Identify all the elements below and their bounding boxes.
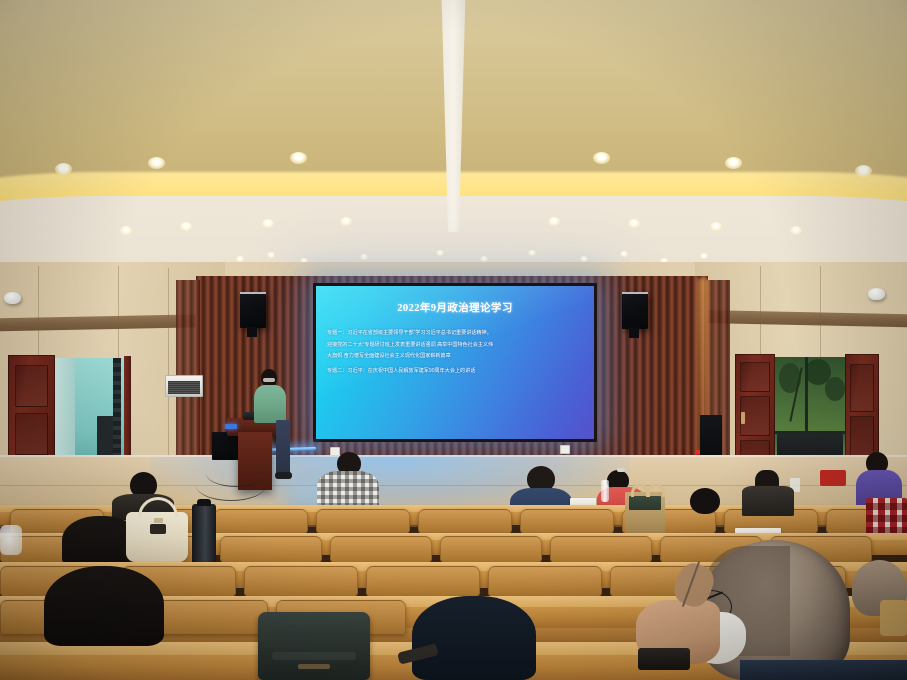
- tote-jute: [625, 492, 665, 536]
- downlight-inner-5: [628, 219, 640, 228]
- projection-screen: 2022年9月政治理论学习 专题一：习近平在省部级主要领导干部“学习习近平总书记…: [313, 283, 597, 442]
- downlight-stage-4: [436, 250, 444, 256]
- slide-line-1: 专题一：习近平在省部级主要领导干部“学习习近平总书记重要讲话精神，: [327, 328, 583, 340]
- downlight-stage-3: [360, 254, 368, 260]
- downlight-inner-0: [120, 226, 132, 235]
- slide-body: 专题一：习近平在省部级主要领导干部“学习习近平总书记重要讲话精神， 迎接党的二十…: [327, 328, 583, 377]
- downlight-inner-7: [790, 226, 802, 235]
- downlight-outer-2: [290, 152, 307, 164]
- door-handle-icon[interactable]: [741, 412, 745, 424]
- smoke-detector-left-icon: [4, 292, 21, 304]
- attendee-bottom-mid: [412, 596, 536, 680]
- water-bottle: [601, 480, 609, 502]
- downlight-outer-3: [593, 152, 610, 164]
- side-cabinet: [700, 415, 722, 455]
- thermos-black: [192, 504, 216, 566]
- backpack-dark: [258, 612, 370, 680]
- downlight-inner-6: [710, 222, 722, 231]
- downlight-inner-3: [340, 217, 352, 226]
- slide-line-4: 专题二：习近平：在庆祝中国人民解放军建军90周年大会上的讲话: [327, 366, 583, 378]
- downlight-outer-1: [148, 157, 165, 169]
- presenter-torso: [254, 385, 286, 423]
- wall-speaker-right-icon: [622, 292, 648, 329]
- chair-r1-c5[interactable]: [418, 509, 512, 533]
- red-item-on-desk: [820, 470, 846, 486]
- hair-clip-icon: [617, 468, 625, 472]
- ceiling-downlights: [0, 0, 907, 300]
- presenter-shoes: [275, 472, 292, 479]
- downlight-outer-0: [55, 163, 72, 175]
- downlight-outer-4: [725, 157, 742, 169]
- downlight-stage-1: [267, 252, 275, 258]
- chair-r3-c3[interactable]: [244, 566, 358, 596]
- chair-r2-c3[interactable]: [220, 536, 322, 562]
- chair-r3-c5[interactable]: [488, 566, 602, 596]
- downlight-inner-1: [180, 222, 192, 231]
- chair-r1-c4[interactable]: [316, 509, 410, 533]
- downlight-stage-10: [700, 253, 708, 259]
- downlight-inner-4: [548, 217, 560, 226]
- downlight-outer-5: [855, 165, 872, 177]
- plastic-bag: [0, 525, 22, 555]
- wall-outlet-right: [560, 445, 570, 454]
- slide-line-2: 迎接党的二十大”专题研讨班上发表重要讲话强调 高举中国特色社会主义伟: [327, 340, 583, 352]
- chair-r3-c4[interactable]: [366, 566, 480, 596]
- chair-r2-c4[interactable]: [330, 536, 432, 562]
- presenter-legs: [276, 420, 290, 474]
- ac-vent-box-icon: [165, 375, 203, 397]
- slide-title: 2022年9月政治理论学习: [316, 300, 594, 315]
- attendee-right-mid: [742, 486, 794, 516]
- chair-r2-c6[interactable]: [550, 536, 652, 562]
- chair-r2-c5[interactable]: [440, 536, 542, 562]
- attendee-bottom-left: [44, 566, 164, 646]
- yellow-item-right: [880, 600, 907, 636]
- attendee-right-dark-head: [690, 488, 720, 514]
- lectern-led: [225, 424, 237, 429]
- downlight-inner-2: [262, 219, 274, 228]
- downlight-stage-8: [620, 251, 628, 257]
- wall-speaker-left-icon: [240, 292, 266, 328]
- presenter-glasses-icon: [263, 378, 275, 382]
- keys-on-desk: [638, 648, 690, 670]
- lecture-hall-photo: 2022年9月政治理论学习 专题一：习近平在省部级主要领导干部“学习习近平总书记…: [0, 0, 907, 680]
- smoke-detector-right-icon: [868, 288, 885, 300]
- slide-line-3: 大旗帜 奋力谱写全面建设社会主义现代化国家崭新篇章: [327, 351, 583, 363]
- attendee-bald-shoulders: [740, 660, 907, 680]
- handbag-cream: [126, 512, 188, 562]
- backpack-logo: [298, 664, 330, 669]
- downlight-stage-6: [528, 250, 536, 256]
- chair-r1-c6[interactable]: [520, 509, 614, 533]
- chair-r1-c3[interactable]: [214, 509, 308, 533]
